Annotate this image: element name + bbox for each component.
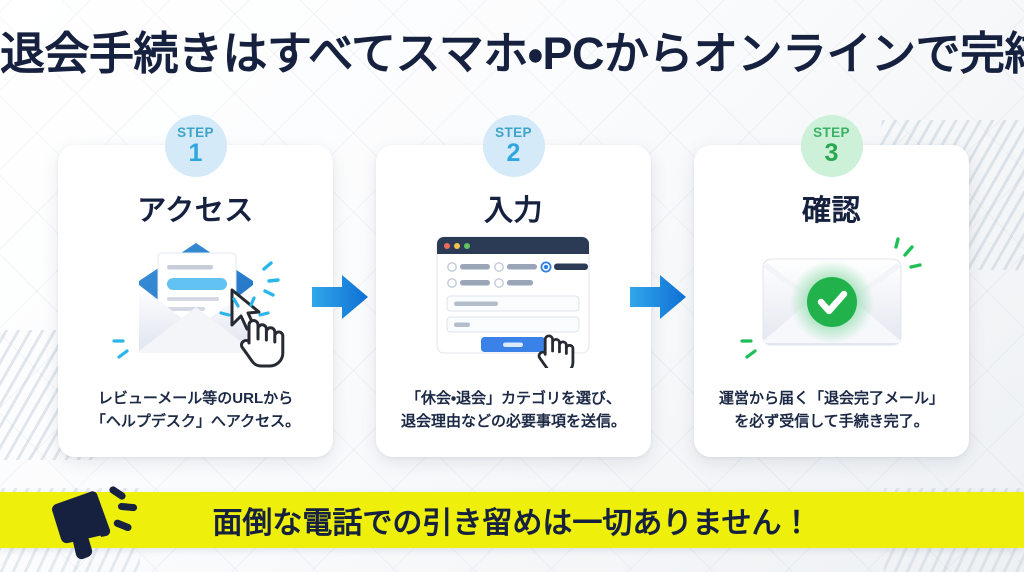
step-card-3: STEP 3 確認 [694, 145, 969, 457]
step-title-3: 確認 [694, 187, 969, 229]
step-badge-number: 2 [507, 141, 521, 166]
step-badge-label: STEP [813, 126, 850, 140]
step-badge-number: 1 [189, 141, 203, 166]
step-badge-label: STEP [177, 126, 214, 140]
infographic-canvas: 退会手続きはすべてスマホ・PCからオンラインで完結 STEP 1 アクセス [0, 0, 1024, 572]
step-caption-3: 運営から届く「退会完了メール」 を必ず受信して手続き完了。 [706, 387, 957, 434]
page-title: 退会手続きはすべてスマホ・PCからオンラインで完結 [0, 28, 1024, 80]
steps-container: STEP 1 アクセス [0, 145, 1024, 465]
step-card-2: STEP 2 入力 [376, 145, 651, 457]
bottom-banner: 面倒な電話での引き留めは一切ありません！ [0, 492, 1024, 548]
right-arrow-icon-2 [630, 273, 686, 321]
envelope-with-green-check-icon [694, 233, 969, 368]
step-title-1: アクセス [58, 187, 333, 229]
traffic-light-green [464, 243, 470, 249]
open-envelope-with-cursor-icon [58, 233, 333, 368]
traffic-light-yellow [454, 243, 460, 249]
step-badge-3: STEP 3 [801, 115, 863, 177]
right-arrow-icon-1 [312, 273, 368, 321]
traffic-light-red [444, 243, 450, 249]
step-badge-label: STEP [495, 126, 532, 140]
megaphone-icon [44, 478, 148, 560]
step-caption-1: レビューメール等のURLから 「ヘルプデスク」へアクセス。 [70, 387, 321, 434]
banner-text: 面倒な電話での引き留めは一切ありません！ [212, 498, 811, 542]
step-badge-1: STEP 1 [165, 115, 227, 177]
browser-form-window-icon [376, 233, 651, 368]
step-badge-2: STEP 2 [483, 115, 545, 177]
step-badge-number: 3 [825, 141, 839, 166]
step-title-2: 入力 [376, 187, 651, 229]
step-card-1: STEP 1 アクセス [58, 145, 333, 457]
step-caption-2: 「休会・退会」カテゴリを選び、 退会理由などの必要事項を送信。 [388, 387, 639, 434]
